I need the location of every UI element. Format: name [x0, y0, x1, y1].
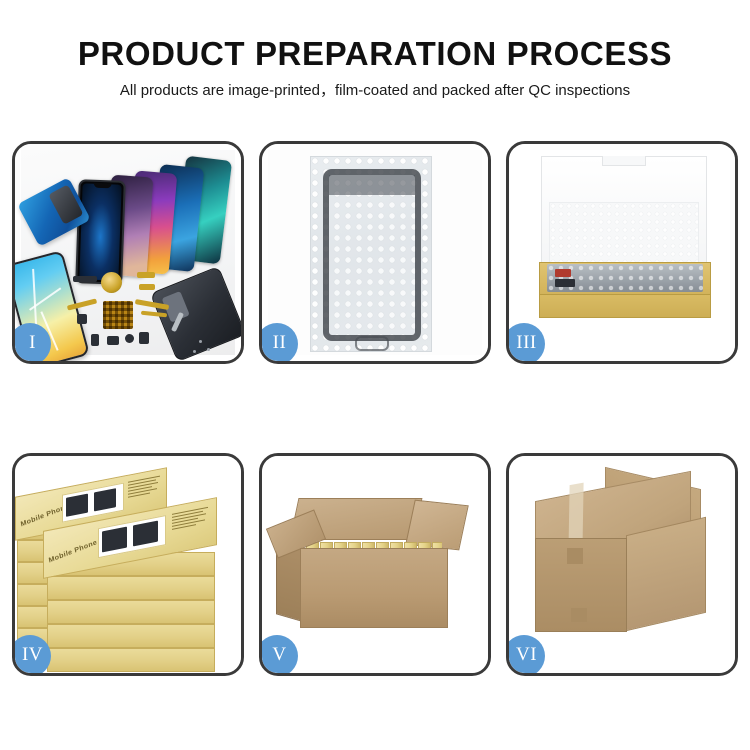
phone-lineup	[15, 144, 241, 361]
step-5-image	[262, 456, 488, 673]
page-header: PRODUCT PREPARATION PROCESS All products…	[0, 0, 750, 102]
process-step-panel-3: III	[506, 141, 738, 364]
process-step-panel-2: II	[259, 141, 491, 364]
step-6-image	[509, 456, 735, 673]
step-badge-2: II	[259, 323, 298, 364]
step-1-image	[15, 144, 241, 361]
page-title: PRODUCT PREPARATION PROCESS	[0, 34, 750, 74]
process-step-grid: I II III	[12, 141, 738, 676]
process-step-panel-1: I	[12, 141, 244, 364]
carton-handle-tab-upper	[567, 548, 583, 564]
step-badge-6: VI	[506, 635, 545, 676]
step-badge-1: I	[12, 323, 51, 364]
wireless-coil-part	[101, 272, 122, 293]
step-4-image: Mobile Phone Spare Parts	[15, 456, 241, 673]
carton-body	[300, 548, 448, 628]
carton-handle-tab-lower	[571, 608, 587, 622]
packed-screen	[547, 264, 703, 292]
process-step-panel-6: VI	[506, 453, 738, 676]
kraft-box-stack: Mobile Phone Spare Parts	[15, 456, 241, 673]
step-2-image	[262, 144, 488, 361]
wrapped-screen	[323, 169, 421, 341]
bubble-wrap-sheet	[310, 156, 432, 352]
step-3-image	[509, 144, 735, 361]
kraft-box-front	[539, 294, 711, 318]
page-subtitle: All products are image-printed，film-coat…	[0, 80, 750, 102]
foam-insert	[549, 202, 699, 264]
step-badge-3: III	[506, 323, 545, 364]
process-step-panel-4: Mobile Phone Spare Parts	[12, 453, 244, 676]
ic-chip-part	[103, 301, 133, 329]
sealed-carton-right-side	[626, 517, 706, 631]
home-button-cutout	[355, 336, 389, 351]
step-badge-5: V	[259, 635, 298, 676]
process-step-panel-5: V	[259, 453, 491, 676]
step-badge-4: IV	[12, 635, 51, 676]
